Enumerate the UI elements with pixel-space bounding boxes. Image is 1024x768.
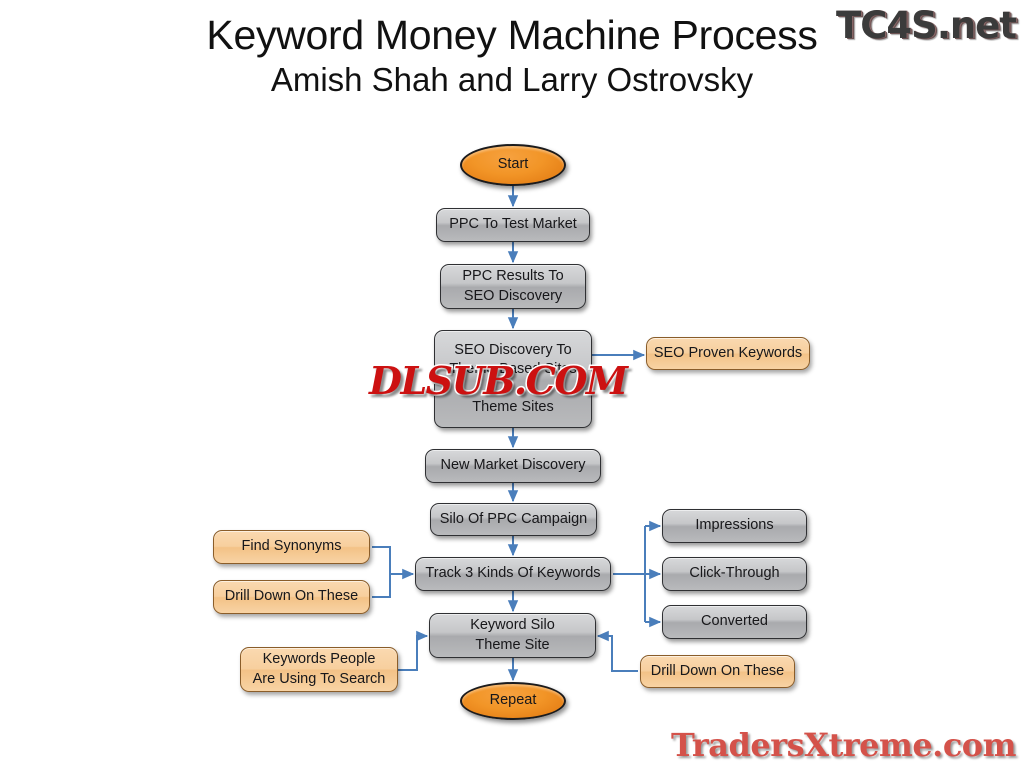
- node-ppc-results-to-seo-discovery[interactable]: PPC Results To SEO Discovery: [440, 264, 586, 309]
- node-drill-down-on-these-left-label: Drill Down On These: [225, 587, 359, 606]
- node-new-market-discovery-label: New Market Discovery: [440, 456, 585, 475]
- node-seo-proven-keywords[interactable]: SEO Proven Keywords: [646, 337, 810, 370]
- node-converted[interactable]: Converted: [662, 605, 807, 639]
- node-keywords-people-are-using-to-search[interactable]: Keywords People Are Using To Search: [240, 647, 398, 692]
- node-seo-discovery-to-theme-based-sites[interactable]: SEO Discovery To Theme-Based Sites Theme…: [434, 330, 592, 428]
- node-ppc-to-test-market[interactable]: PPC To Test Market: [436, 208, 590, 242]
- node-click-through[interactable]: Click-Through: [662, 557, 807, 591]
- node-converted-label: Converted: [701, 612, 768, 631]
- node-keyword-silo-theme-site-label: Keyword Silo Theme Site: [470, 616, 555, 654]
- node-start[interactable]: Start: [460, 144, 566, 186]
- node-drill-down-on-these-left[interactable]: Drill Down On These: [213, 580, 370, 614]
- node-click-through-label: Click-Through: [689, 564, 779, 583]
- connector-keywords-people-to-keyword-silo: [398, 636, 427, 670]
- node-new-market-discovery[interactable]: New Market Discovery: [425, 449, 601, 483]
- node-impressions-label: Impressions: [695, 516, 773, 535]
- node-repeat[interactable]: Repeat: [460, 682, 566, 720]
- node-silo-of-ppc-campaign-label: Silo Of PPC Campaign: [440, 510, 587, 529]
- node-start-label: Start: [498, 155, 529, 174]
- node-find-synonyms[interactable]: Find Synonyms: [213, 530, 370, 564]
- flowchart-canvas: Start PPC To Test Market PPC Results To …: [0, 0, 1024, 768]
- node-impressions[interactable]: Impressions: [662, 509, 807, 543]
- node-ppc-to-test-market-label: PPC To Test Market: [449, 215, 577, 234]
- node-seo-discovery-to-theme-based-sites-label: SEO Discovery To Theme-Based Sites Theme…: [449, 341, 576, 418]
- node-silo-of-ppc-campaign[interactable]: Silo Of PPC Campaign: [430, 503, 597, 536]
- connector-drill-left-bus: [372, 574, 390, 597]
- node-repeat-label: Repeat: [490, 691, 537, 710]
- node-find-synonyms-label: Find Synonyms: [242, 537, 342, 556]
- connector-find-synonyms-bus: [372, 547, 390, 574]
- connector-drill-right-to-keyword-silo: [598, 636, 638, 671]
- node-drill-down-on-these-right-label: Drill Down On These: [651, 662, 785, 681]
- node-keywords-people-are-using-to-search-label: Keywords People Are Using To Search: [253, 650, 386, 688]
- node-track-3-kinds-of-keywords-label: Track 3 Kinds Of Keywords: [425, 564, 600, 583]
- node-track-3-kinds-of-keywords[interactable]: Track 3 Kinds Of Keywords: [415, 557, 611, 591]
- node-ppc-results-to-seo-discovery-label: PPC Results To SEO Discovery: [462, 267, 563, 305]
- node-keyword-silo-theme-site[interactable]: Keyword Silo Theme Site: [429, 613, 596, 658]
- node-seo-proven-keywords-label: SEO Proven Keywords: [654, 344, 802, 363]
- node-drill-down-on-these-right[interactable]: Drill Down On These: [640, 655, 795, 688]
